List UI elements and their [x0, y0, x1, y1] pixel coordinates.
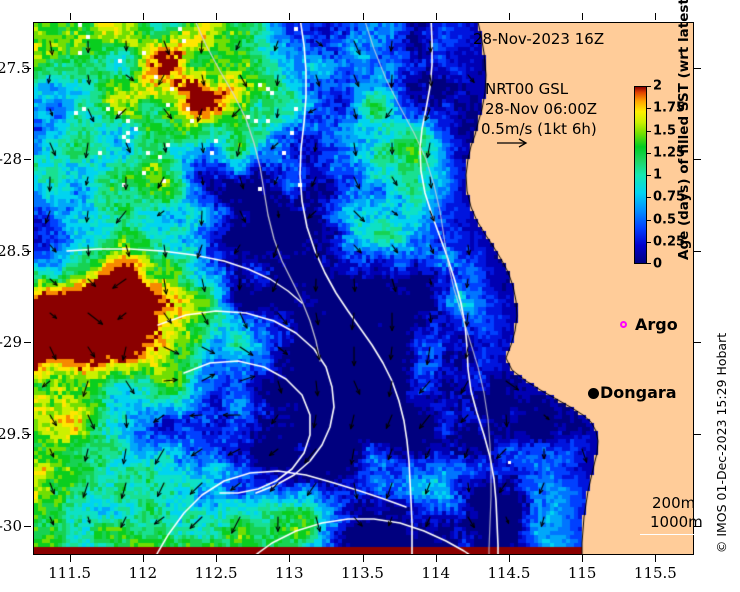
- x-tick: [509, 555, 510, 562]
- current-vector-reference-arrow-icon: [495, 136, 535, 150]
- x-tick-top: [216, 13, 217, 20]
- depth-legend-200m: 200m: [652, 494, 695, 512]
- x-tick-label: 111.5: [48, 564, 91, 582]
- colorbar-tick: [647, 197, 651, 198]
- colorbar-tick-label: 0: [653, 257, 662, 272]
- colorbar-tick: [647, 86, 651, 87]
- x-tick-top: [436, 13, 437, 20]
- x-tick: [655, 555, 656, 562]
- y-tick-label: -28.5: [0, 242, 22, 260]
- colorbar-tick: [647, 242, 651, 243]
- product-name-label: NRT00 GSL: [485, 80, 568, 98]
- y-tick-label: -29.5: [0, 425, 22, 443]
- colorbar-tick-label: 1.5: [653, 123, 676, 138]
- colorbar-tick: [647, 220, 651, 221]
- x-tick: [143, 555, 144, 562]
- x-tick-top: [143, 13, 144, 20]
- colorbar-tick: [647, 108, 651, 109]
- colorbar-tick: [647, 175, 651, 176]
- x-tick: [289, 555, 290, 562]
- x-tick-top: [509, 13, 510, 20]
- colorbar-tick-label: 1: [653, 168, 662, 183]
- x-tick-top: [363, 13, 364, 20]
- y-tick-right: [694, 342, 701, 343]
- colorbar-tick: [647, 263, 651, 264]
- x-tick: [582, 555, 583, 562]
- datestamp-label: 28-Nov-2023 16Z: [473, 30, 604, 48]
- y-tick-label: -29: [0, 333, 22, 351]
- colorbar: 21.751.51.2510.750.50.250: [634, 86, 647, 264]
- x-tick: [70, 555, 71, 562]
- x-tick-label: 112: [129, 564, 158, 582]
- x-tick: [436, 555, 437, 562]
- colorbar-title: Age (days) of filled SST (wrt latest): [676, 30, 692, 260]
- colorbar-gradient: [634, 86, 647, 264]
- town-marker-dongara[interactable]: [588, 388, 599, 399]
- x-tick-top: [655, 13, 656, 20]
- dongara-label: Dongara: [600, 383, 677, 402]
- y-tick-right: [694, 159, 701, 160]
- y-tick-label: -27.5: [0, 59, 22, 77]
- x-tick: [363, 555, 364, 562]
- y-tick-right: [694, 434, 701, 435]
- credit-label: © IMOS 01-Dec-2023 15:29 Hobart: [714, 318, 729, 568]
- product-time-label: 28-Nov 06:00Z: [485, 100, 597, 118]
- x-tick-label: 113.5: [341, 564, 384, 582]
- x-tick-top: [289, 13, 290, 20]
- x-tick: [216, 555, 217, 562]
- argo-label: Argo: [635, 315, 678, 334]
- depth-legend-1000m: 1000m: [650, 513, 703, 531]
- x-tick-top: [582, 13, 583, 20]
- x-tick-label: 115.5: [634, 564, 677, 582]
- x-tick-label: 114: [421, 564, 450, 582]
- x-tick-label: 115: [568, 564, 597, 582]
- x-tick-label: 113: [275, 564, 304, 582]
- y-tick: [24, 159, 31, 160]
- y-tick-right: [694, 251, 701, 252]
- colorbar-tick: [647, 131, 651, 132]
- y-tick-right: [694, 68, 701, 69]
- colorbar-tick-label: 0.5: [653, 212, 676, 227]
- colorbar-tick: [647, 153, 651, 154]
- y-tick-label: -28: [0, 150, 22, 168]
- x-tick-label: 114.5: [487, 564, 530, 582]
- y-tick: [24, 342, 31, 343]
- colorbar-tick-label: 2: [653, 79, 662, 94]
- figure-root: 111.5112112.5113113.5114114.5115115.5-27…: [0, 0, 740, 592]
- argo-float-marker[interactable]: [620, 321, 627, 328]
- depth-legend-rule: [640, 534, 696, 535]
- y-tick: [24, 526, 31, 527]
- x-tick-top: [70, 13, 71, 20]
- x-tick-label: 112.5: [195, 564, 238, 582]
- y-tick-label: -30: [0, 517, 22, 535]
